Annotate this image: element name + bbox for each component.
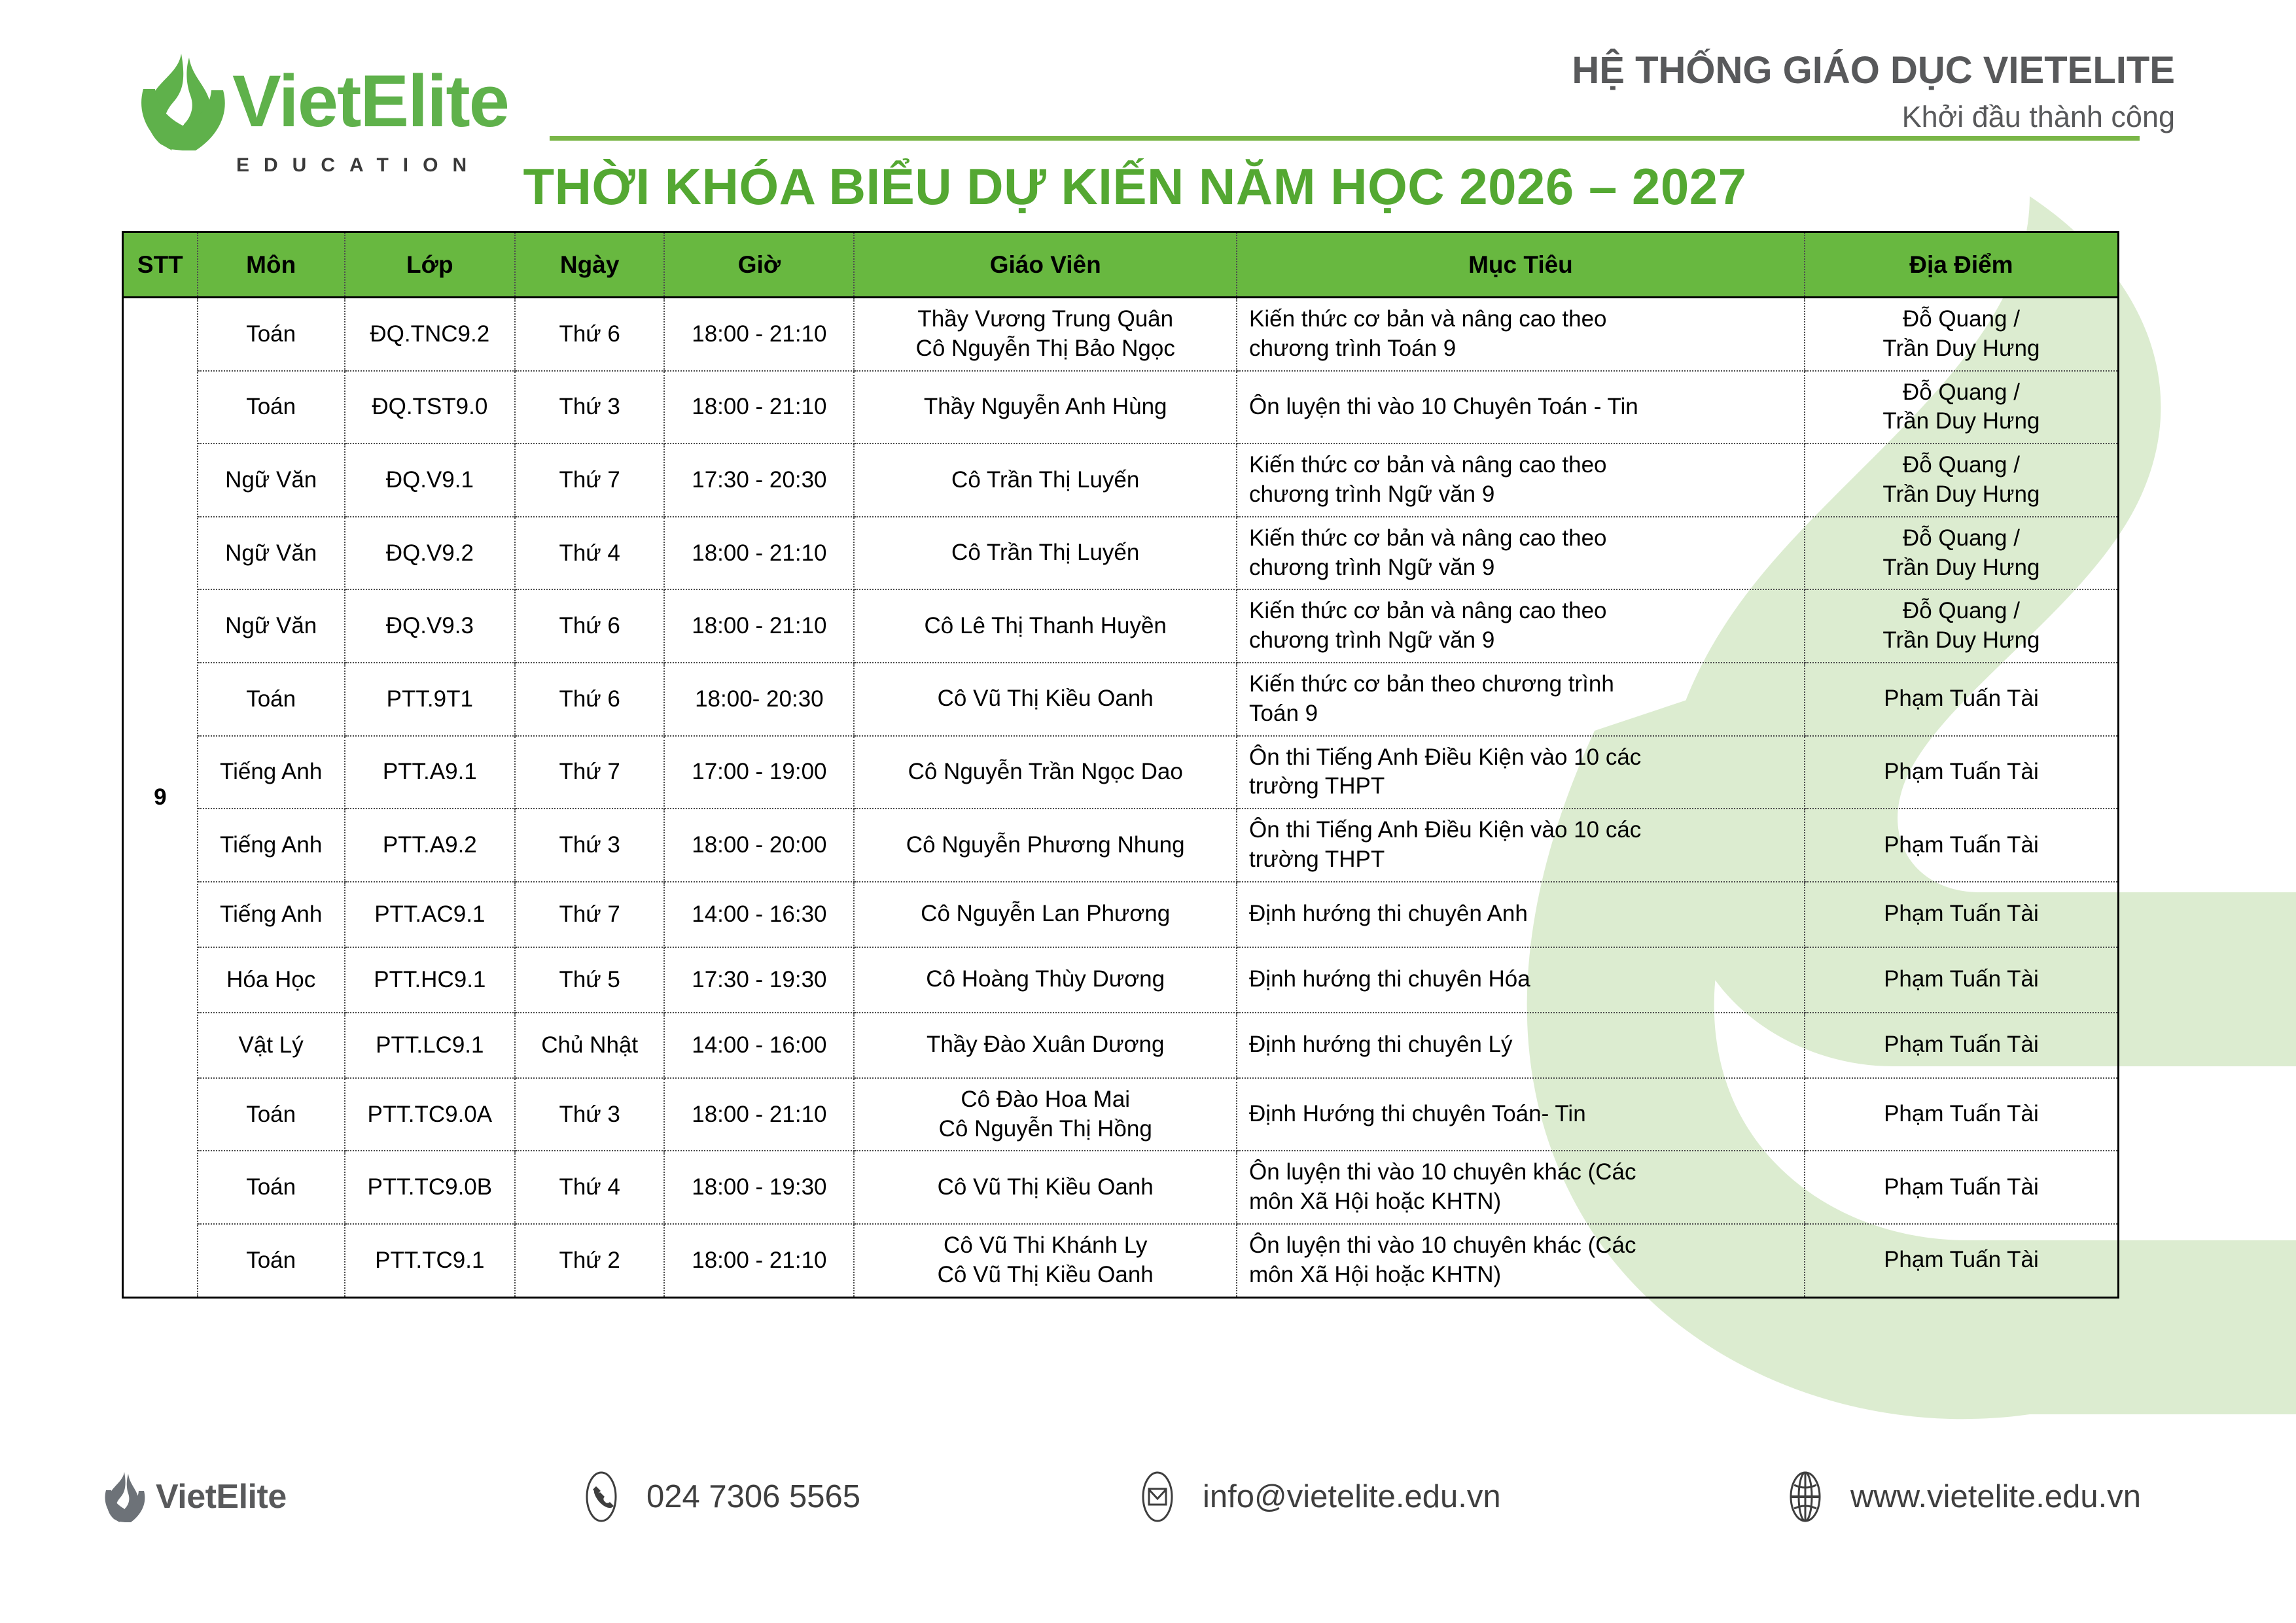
cell-muc-tieu-line: trường THPT [1249, 772, 1792, 801]
cell-dia-diem-line: Đỗ Quang / [1809, 597, 2113, 626]
cell-dia-diem: Phạm Tuấn Tài [1805, 947, 2119, 1013]
cell-dia-diem: Phạm Tuấn Tài [1805, 1224, 2119, 1297]
cell-muc-tieu-line: Kiến thức cơ bản và nâng cao theo [1249, 524, 1792, 553]
cell-giao-vien-line: Cô Vũ Thị Kiều Oanh [858, 1261, 1232, 1290]
cell-muc-tieu: Kiến thức cơ bản và nâng cao theochương … [1237, 517, 1805, 590]
cell-giao-vien-line: Cô Nguyễn Thị Hồng [858, 1115, 1232, 1144]
cell-dia-diem-line: Phạm Tuấn Tài [1809, 1173, 2113, 1202]
cell-giao-vien-line: Thầy Nguyễn Anh Hùng [858, 393, 1232, 422]
cell-dia-diem: Đỗ Quang /Trần Duy Hưng [1805, 517, 2119, 590]
cell-ngay: Thứ 7 [515, 736, 664, 809]
cell-gio: 17:00 - 19:00 [664, 736, 854, 809]
footer-phone-text: 024 7306 5565 [646, 1478, 860, 1515]
cell-muc-tieu-line: Ôn thi Tiếng Anh Điều Kiện vào 10 các [1249, 743, 1792, 773]
brand-text-block: HỆ THỐNG GIÁO DỤC VIETELITE Khởi đầu thà… [1572, 51, 2175, 134]
table-row: Tiếng AnhPTT.A9.2Thứ 318:00 - 20:00Cô Ng… [123, 809, 2119, 882]
footer-logo-text: VietElite [156, 1477, 287, 1516]
cell-mon: Toán [198, 298, 345, 371]
cell-muc-tieu-line: chương trình Toán 9 [1249, 334, 1792, 364]
phone-icon [576, 1471, 627, 1522]
cell-dia-diem-line: Trần Duy Hưng [1809, 553, 2113, 583]
table-row: ToánPTT.TC9.0BThứ 418:00 - 19:30Cô Vũ Th… [123, 1151, 2119, 1224]
cell-muc-tieu: Định hướng thi chuyên Lý [1237, 1013, 1805, 1078]
column-header-địa-điểm: Địa Điểm [1805, 232, 2119, 298]
cell-lop: ĐQ.TNC9.2 [345, 298, 515, 371]
cell-mon: Tiếng Anh [198, 882, 345, 947]
cell-mon: Toán [198, 663, 345, 736]
cell-dia-diem-line: Phạm Tuấn Tài [1809, 1030, 2113, 1060]
cell-dia-diem: Phạm Tuấn Tài [1805, 736, 2119, 809]
cell-muc-tieu: Ôn thi Tiếng Anh Điều Kiện vào 10 cáctrư… [1237, 809, 1805, 882]
cell-muc-tieu: Kiến thức cơ bản và nâng cao theochương … [1237, 444, 1805, 517]
cell-dia-diem-line: Trần Duy Hưng [1809, 407, 2113, 436]
cell-muc-tieu: Định Hướng thi chuyên Toán- Tin [1237, 1078, 1805, 1151]
cell-ngay: Thứ 6 [515, 663, 664, 736]
table-row: Tiếng AnhPTT.A9.1Thứ 717:00 - 19:00Cô Ng… [123, 736, 2119, 809]
cell-mon: Ngữ Văn [198, 517, 345, 590]
footer-logo: VietElite [105, 1471, 287, 1522]
flame-logo-icon [105, 1471, 145, 1522]
cell-giao-vien-line: Cô Vũ Thị Kiều Oanh [858, 684, 1232, 714]
cell-mon: Ngữ Văn [198, 444, 345, 517]
footer-website-text: www.vietelite.edu.vn [1850, 1478, 2141, 1515]
cell-lop: PTT.TC9.0B [345, 1151, 515, 1224]
cell-lop: PTT.TC9.1 [345, 1224, 515, 1297]
cell-gio: 18:00 - 21:10 [664, 517, 854, 590]
schedule-table: STTMônLớpNgàyGiờGiáo ViênMục TiêuĐịa Điể… [122, 231, 2119, 1299]
cell-giao-vien-line: Cô Lê Thị Thanh Huyền [858, 612, 1232, 641]
cell-dia-diem: Đỗ Quang /Trần Duy Hưng [1805, 444, 2119, 517]
cell-giao-vien-line: Thầy Đào Xuân Dương [858, 1030, 1232, 1060]
cell-dia-diem-line: Đỗ Quang / [1809, 378, 2113, 408]
column-header-stt: STT [123, 232, 198, 298]
cell-giao-vien-line: Cô Trần Thị Luyến [858, 538, 1232, 568]
cell-muc-tieu: Ôn thi Tiếng Anh Điều Kiện vào 10 cáctrư… [1237, 736, 1805, 809]
cell-dia-diem-line: Phạm Tuấn Tài [1809, 831, 2113, 860]
cell-stt: 9 [123, 298, 198, 1298]
cell-muc-tieu-line: Toán 9 [1249, 699, 1792, 729]
cell-lop: PTT.9T1 [345, 663, 515, 736]
table-row: ToánĐQ.TST9.0Thứ 318:00 - 21:10Thầy Nguy… [123, 371, 2119, 444]
cell-muc-tieu-line: Định hướng thi chuyên Anh [1249, 899, 1792, 929]
cell-muc-tieu: Định hướng thi chuyên Hóa [1237, 947, 1805, 1013]
cell-mon: Vật Lý [198, 1013, 345, 1078]
cell-muc-tieu-line: chương trình Ngữ văn 9 [1249, 626, 1792, 655]
table-row: ToánPTT.9T1Thứ 618:00- 20:30Cô Vũ Thị Ki… [123, 663, 2119, 736]
cell-gio: 18:00 - 20:00 [664, 809, 854, 882]
cell-lop: PTT.LC9.1 [345, 1013, 515, 1078]
table-row: Ngữ VănĐQ.V9.1Thứ 717:30 - 20:30Cô Trần … [123, 444, 2119, 517]
cell-dia-diem-line: Đỗ Quang / [1809, 524, 2113, 553]
cell-giao-vien: Cô Nguyễn Phương Nhung [854, 809, 1237, 882]
cell-giao-vien: Cô Vũ Thi Khánh LyCô Vũ Thị Kiều Oanh [854, 1224, 1237, 1297]
cell-muc-tieu-line: Định hướng thi chuyên Hóa [1249, 965, 1792, 994]
cell-giao-vien: Cô Đào Hoa MaiCô Nguyễn Thị Hồng [854, 1078, 1237, 1151]
cell-dia-diem: Phạm Tuấn Tài [1805, 663, 2119, 736]
cell-ngay: Thứ 2 [515, 1224, 664, 1297]
cell-giao-vien: Thầy Vương Trung QuânCô Nguyễn Thị Bảo N… [854, 298, 1237, 371]
cell-lop: PTT.A9.2 [345, 809, 515, 882]
cell-giao-vien-line: Cô Nguyễn Phương Nhung [858, 831, 1232, 860]
cell-giao-vien-line: Cô Đào Hoa Mai [858, 1085, 1232, 1115]
cell-giao-vien: Cô Trần Thị Luyến [854, 517, 1237, 590]
cell-giao-vien: Cô Nguyễn Lan Phương [854, 882, 1237, 947]
cell-dia-diem-line: Phạm Tuấn Tài [1809, 684, 2113, 714]
column-header-ngày: Ngày [515, 232, 664, 298]
cell-muc-tieu-line: chương trình Ngữ văn 9 [1249, 553, 1792, 583]
cell-lop: PTT.AC9.1 [345, 882, 515, 947]
cell-gio: 18:00 - 21:10 [664, 298, 854, 371]
cell-ngay: Thứ 7 [515, 444, 664, 517]
cell-muc-tieu-line: Định Hướng thi chuyên Toán- Tin [1249, 1100, 1792, 1129]
cell-muc-tieu: Kiến thức cơ bản theo chương trìnhToán 9 [1237, 663, 1805, 736]
cell-giao-vien: Cô Hoàng Thùy Dương [854, 947, 1237, 1013]
cell-gio: 17:30 - 19:30 [664, 947, 854, 1013]
cell-ngay: Thứ 3 [515, 371, 664, 444]
cell-muc-tieu: Ôn luyện thi vào 10 chuyên khác (Cácmôn … [1237, 1151, 1805, 1224]
cell-ngay: Thứ 4 [515, 1151, 664, 1224]
cell-dia-diem-line: Trần Duy Hưng [1809, 334, 2113, 364]
cell-giao-vien-line: Cô Nguyễn Lan Phương [858, 899, 1232, 929]
cell-gio: 18:00 - 21:10 [664, 589, 854, 663]
table-row: Tiếng AnhPTT.AC9.1Thứ 714:00 - 16:30Cô N… [123, 882, 2119, 947]
cell-ngay: Thứ 4 [515, 517, 664, 590]
cell-lop: PTT.A9.1 [345, 736, 515, 809]
cell-giao-vien-line: Cô Nguyễn Thị Bảo Ngọc [858, 334, 1232, 364]
cell-mon: Tiếng Anh [198, 736, 345, 809]
cell-giao-vien: Thầy Đào Xuân Dương [854, 1013, 1237, 1078]
cell-dia-diem: Đỗ Quang /Trần Duy Hưng [1805, 589, 2119, 663]
cell-dia-diem-line: Phạm Tuấn Tài [1809, 899, 2113, 929]
cell-muc-tieu: Ôn luyện thi vào 10 chuyên khác (Cácmôn … [1237, 1224, 1805, 1297]
cell-muc-tieu-line: môn Xã Hội hoặc KHTN) [1249, 1187, 1792, 1217]
column-header-giáo-viên: Giáo Viên [854, 232, 1237, 298]
cell-giao-vien-line: Thầy Vương Trung Quân [858, 305, 1232, 334]
cell-ngay: Thứ 7 [515, 882, 664, 947]
cell-muc-tieu: Định hướng thi chuyên Anh [1237, 882, 1805, 947]
cell-gio: 17:30 - 20:30 [664, 444, 854, 517]
cell-giao-vien: Cô Vũ Thị Kiều Oanh [854, 663, 1237, 736]
cell-dia-diem: Phạm Tuấn Tài [1805, 882, 2119, 947]
cell-giao-vien-line: Cô Vũ Thị Kiều Oanh [858, 1173, 1232, 1202]
cell-mon: Toán [198, 1151, 345, 1224]
table-row: 9ToánĐQ.TNC9.2Thứ 618:00 - 21:10Thầy Vươ… [123, 298, 2119, 371]
cell-lop: ĐQ.V9.1 [345, 444, 515, 517]
cell-dia-diem: Phạm Tuấn Tài [1805, 1013, 2119, 1078]
cell-giao-vien: Cô Vũ Thị Kiều Oanh [854, 1151, 1237, 1224]
cell-dia-diem: Phạm Tuấn Tài [1805, 1151, 2119, 1224]
cell-mon: Tiếng Anh [198, 809, 345, 882]
column-header-lớp: Lớp [345, 232, 515, 298]
cell-muc-tieu: Kiến thức cơ bản và nâng cao theochương … [1237, 589, 1805, 663]
cell-gio: 18:00 - 21:10 [664, 371, 854, 444]
cell-lop: ĐQ.V9.2 [345, 517, 515, 590]
cell-giao-vien-line: Cô Nguyễn Trần Ngọc Dao [858, 758, 1232, 787]
column-header-mục-tiêu: Mục Tiêu [1237, 232, 1805, 298]
cell-ngay: Thứ 5 [515, 947, 664, 1013]
header-divider [550, 136, 2140, 141]
cell-muc-tieu-line: môn Xã Hội hoặc KHTN) [1249, 1261, 1792, 1290]
cell-muc-tieu-line: chương trình Ngữ văn 9 [1249, 480, 1792, 510]
table-row: ToánPTT.TC9.0AThứ 318:00 - 21:10Cô Đào H… [123, 1078, 2119, 1151]
footer-phone[interactable]: 024 7306 5565 [576, 1471, 860, 1522]
cell-dia-diem-line: Trần Duy Hưng [1809, 626, 2113, 655]
brand-title: HỆ THỐNG GIÁO DỤC VIETELITE [1572, 51, 2175, 91]
cell-dia-diem-line: Phạm Tuấn Tài [1809, 1100, 2113, 1129]
cell-dia-diem-line: Phạm Tuấn Tài [1809, 1246, 2113, 1275]
cell-dia-diem: Đỗ Quang /Trần Duy Hưng [1805, 298, 2119, 371]
schedule-table-wrapper: STTMônLớpNgàyGiờGiáo ViênMục TiêuĐịa Điể… [122, 231, 2119, 1299]
cell-dia-diem-line: Trần Duy Hưng [1809, 480, 2113, 510]
cell-muc-tieu: Ôn luyện thi vào 10 Chuyên Toán - Tin [1237, 371, 1805, 444]
footer-email[interactable]: info@vietelite.edu.vn [1132, 1471, 1501, 1522]
footer-email-text: info@vietelite.edu.vn [1203, 1478, 1501, 1515]
flame-logo-icon [141, 52, 226, 150]
cell-lop: PTT.TC9.0A [345, 1078, 515, 1151]
cell-mon: Toán [198, 1078, 345, 1151]
cell-dia-diem: Đỗ Quang /Trần Duy Hưng [1805, 371, 2119, 444]
cell-giao-vien-line: Cô Vũ Thi Khánh Ly [858, 1231, 1232, 1261]
cell-dia-diem-line: Đỗ Quang / [1809, 305, 2113, 334]
page-title: THỜI KHÓA BIỂU DỰ KIẾN NĂM HỌC 2026 – 20… [0, 157, 2296, 217]
cell-mon: Hóa Học [198, 947, 345, 1013]
cell-dia-diem-line: Phạm Tuấn Tài [1809, 758, 2113, 787]
cell-lop: ĐQ.V9.3 [345, 589, 515, 663]
cell-giao-vien: Thầy Nguyễn Anh Hùng [854, 371, 1237, 444]
cell-gio: 18:00- 20:30 [664, 663, 854, 736]
cell-gio: 18:00 - 21:10 [664, 1224, 854, 1297]
table-row: Vật LýPTT.LC9.1Chủ Nhật14:00 - 16:00Thầy… [123, 1013, 2119, 1078]
cell-muc-tieu-line: Kiến thức cơ bản và nâng cao theo [1249, 597, 1792, 626]
cell-lop: ĐQ.TST9.0 [345, 371, 515, 444]
cell-giao-vien: Cô Nguyễn Trần Ngọc Dao [854, 736, 1237, 809]
page-header: VietElite EDUCATION HỆ THỐNG GIÁO DỤC VI… [0, 0, 2296, 203]
cell-ngay: Chủ Nhật [515, 1013, 664, 1078]
cell-ngay: Thứ 6 [515, 298, 664, 371]
cell-gio: 18:00 - 19:30 [664, 1151, 854, 1224]
cell-muc-tieu-line: Ôn luyện thi vào 10 chuyên khác (Các [1249, 1231, 1792, 1261]
cell-ngay: Thứ 3 [515, 1078, 664, 1151]
cell-muc-tieu-line: trường THPT [1249, 845, 1792, 875]
cell-giao-vien: Cô Lê Thị Thanh Huyền [854, 589, 1237, 663]
footer-website[interactable]: www.vietelite.edu.vn [1780, 1471, 2141, 1522]
schedule-page: VietElite EDUCATION HỆ THỐNG GIÁO DỤC VI… [0, 0, 2296, 1623]
cell-ngay: Thứ 3 [515, 809, 664, 882]
table-header-row: STTMônLớpNgàyGiờGiáo ViênMục TiêuĐịa Điể… [123, 232, 2119, 298]
cell-muc-tieu: Kiến thức cơ bản và nâng cao theochương … [1237, 298, 1805, 371]
table-row: Ngữ VănĐQ.V9.3Thứ 618:00 - 21:10Cô Lê Th… [123, 589, 2119, 663]
column-header-giờ: Giờ [664, 232, 854, 298]
cell-dia-diem: Phạm Tuấn Tài [1805, 1078, 2119, 1151]
cell-giao-vien: Cô Trần Thị Luyến [854, 444, 1237, 517]
table-body: 9ToánĐQ.TNC9.2Thứ 618:00 - 21:10Thầy Vươ… [123, 298, 2119, 1298]
cell-ngay: Thứ 6 [515, 589, 664, 663]
cell-dia-diem-line: Phạm Tuấn Tài [1809, 965, 2113, 994]
cell-muc-tieu-line: Kiến thức cơ bản và nâng cao theo [1249, 451, 1792, 480]
cell-dia-diem-line: Đỗ Quang / [1809, 451, 2113, 480]
cell-mon: Toán [198, 371, 345, 444]
cell-muc-tieu-line: Kiến thức cơ bản và nâng cao theo [1249, 305, 1792, 334]
cell-muc-tieu-line: Ôn luyện thi vào 10 chuyên khác (Các [1249, 1158, 1792, 1187]
cell-giao-vien-line: Cô Trần Thị Luyến [858, 466, 1232, 495]
cell-dia-diem: Phạm Tuấn Tài [1805, 809, 2119, 882]
cell-muc-tieu-line: Ôn thi Tiếng Anh Điều Kiện vào 10 các [1249, 816, 1792, 845]
cell-gio: 14:00 - 16:00 [664, 1013, 854, 1078]
cell-gio: 18:00 - 21:10 [664, 1078, 854, 1151]
globe-icon [1780, 1471, 1831, 1522]
cell-gio: 14:00 - 16:30 [664, 882, 854, 947]
cell-mon: Toán [198, 1224, 345, 1297]
table-row: Ngữ VănĐQ.V9.2Thứ 418:00 - 21:10Cô Trần … [123, 517, 2119, 590]
table-row: ToánPTT.TC9.1Thứ 218:00 - 21:10Cô Vũ Thi… [123, 1224, 2119, 1297]
brand-slogan: Khởi đầu thành công [1572, 100, 2175, 134]
cell-giao-vien-line: Cô Hoàng Thùy Dương [858, 965, 1232, 994]
table-row: Hóa HọcPTT.HC9.1Thứ 517:30 - 19:30Cô Hoà… [123, 947, 2119, 1013]
envelope-icon [1132, 1471, 1183, 1522]
column-header-môn: Môn [198, 232, 345, 298]
cell-lop: PTT.HC9.1 [345, 947, 515, 1013]
cell-muc-tieu-line: Kiến thức cơ bản theo chương trình [1249, 670, 1792, 699]
cell-muc-tieu-line: Ôn luyện thi vào 10 Chuyên Toán - Tin [1249, 393, 1792, 422]
cell-mon: Ngữ Văn [198, 589, 345, 663]
cell-muc-tieu-line: Định hướng thi chuyên Lý [1249, 1030, 1792, 1060]
page-footer: VietElite 024 7306 5565 info@vietelite.e… [0, 1454, 2296, 1539]
logo-wordmark: VietElite [232, 65, 508, 138]
